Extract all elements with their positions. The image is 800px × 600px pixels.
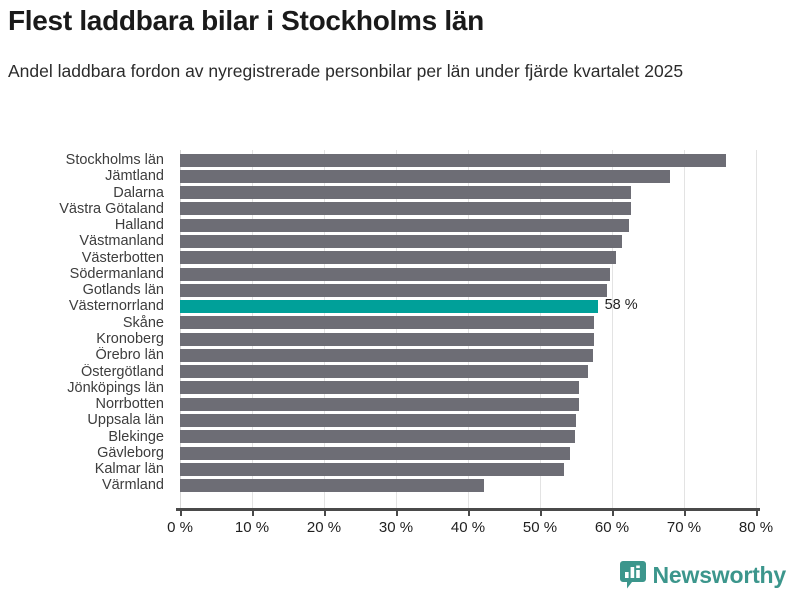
y-label-kalmar-län: Kalmar län <box>0 461 164 477</box>
newsworthy-bar-chart-bubble-icon <box>620 561 646 589</box>
bar-row[interactable] <box>180 168 756 184</box>
bar-uppsala-län[interactable] <box>180 414 576 427</box>
y-label-västernorrland: Västernorrland <box>0 298 164 314</box>
bar-gävleborg[interactable] <box>180 447 570 460</box>
bar-dalarna[interactable] <box>180 186 631 199</box>
bar-kalmar-län[interactable] <box>180 463 564 476</box>
y-axis-category-labels: Stockholms länJämtlandDalarnaVästra Göta… <box>0 150 172 508</box>
y-label-jönköpings-län: Jönköpings län <box>0 380 164 396</box>
y-label-östergötland: Östergötland <box>0 364 164 380</box>
bar-row[interactable] <box>180 201 756 217</box>
bar-östergötland[interactable] <box>180 365 588 378</box>
bar-row[interactable] <box>180 315 756 331</box>
bar-blekinge[interactable] <box>180 430 575 443</box>
x-tick-0 <box>180 508 182 516</box>
gridline-80 <box>756 150 757 508</box>
bar-stockholms-län[interactable] <box>180 154 726 167</box>
x-tick-label-30: 30 % <box>379 519 413 537</box>
bar-row[interactable]: 58 % <box>180 298 756 314</box>
x-tick-50 <box>540 508 542 516</box>
bar-row[interactable] <box>180 461 756 477</box>
bar-row[interactable] <box>180 282 756 298</box>
bar-halland[interactable] <box>180 219 629 232</box>
y-label-uppsala-län: Uppsala län <box>0 412 164 428</box>
y-label-skåne: Skåne <box>0 315 164 331</box>
bar-value-label: 58 % <box>605 297 638 313</box>
bar-jönköpings-län[interactable] <box>180 381 579 394</box>
x-tick-40 <box>468 508 470 516</box>
bar-row[interactable] <box>180 266 756 282</box>
bar-row[interactable] <box>180 217 756 233</box>
bar-row[interactable] <box>180 477 756 493</box>
bar-västernorrland[interactable] <box>180 300 598 313</box>
x-tick-label-0: 0 % <box>167 519 193 537</box>
bar-row[interactable] <box>180 364 756 380</box>
y-label-blekinge: Blekinge <box>0 429 164 445</box>
x-tick-80 <box>756 508 758 516</box>
bar-södermanland[interactable] <box>180 268 610 281</box>
plot-area: 58 % <box>180 150 756 508</box>
x-tick-20 <box>324 508 326 516</box>
y-label-halland: Halland <box>0 217 164 233</box>
bar-row[interactable] <box>180 412 756 428</box>
y-label-värmland: Värmland <box>0 477 164 493</box>
bar-row[interactable] <box>180 250 756 266</box>
y-label-västmanland: Västmanland <box>0 233 164 249</box>
x-tick-10 <box>252 508 254 516</box>
y-label-gävleborg: Gävleborg <box>0 445 164 461</box>
y-label-kronoberg: Kronoberg <box>0 331 164 347</box>
y-label-västerbotten: Västerbotten <box>0 250 164 266</box>
y-label-dalarna: Dalarna <box>0 185 164 201</box>
bar-västmanland[interactable] <box>180 235 622 248</box>
bar-row[interactable] <box>180 429 756 445</box>
x-tick-label-60: 60 % <box>595 519 629 537</box>
bar-row[interactable] <box>180 347 756 363</box>
y-label-västra-götaland: Västra Götaland <box>0 201 164 217</box>
bar-kronoberg[interactable] <box>180 333 594 346</box>
y-label-södermanland: Södermanland <box>0 266 164 282</box>
chart-subtitle: Andel laddbara fordon av nyregistrerade … <box>8 58 798 84</box>
bar-row[interactable] <box>180 185 756 201</box>
newsworthy-logo: Newsworthy <box>620 560 786 590</box>
bar-row[interactable] <box>180 233 756 249</box>
bar-värmland[interactable] <box>180 479 484 492</box>
x-tick-70 <box>684 508 686 516</box>
chart-title: Flest laddbara bilar i Stockholms län <box>8 4 792 38</box>
bar-skåne[interactable] <box>180 316 594 329</box>
bar-norrbotten[interactable] <box>180 398 579 411</box>
bar-örebro-län[interactable] <box>180 349 593 362</box>
newsworthy-wordmark: Newsworthy <box>653 562 786 588</box>
x-tick-30 <box>396 508 398 516</box>
y-label-örebro-län: Örebro län <box>0 347 164 363</box>
bar-jämtland[interactable] <box>180 170 670 183</box>
bar-row[interactable] <box>180 445 756 461</box>
y-label-gotlands-län: Gotlands län <box>0 282 164 298</box>
chart-container: Flest laddbara bilar i Stockholms län An… <box>0 0 800 600</box>
x-tick-label-40: 40 % <box>451 519 485 537</box>
bar-series: 58 % <box>180 150 756 508</box>
x-tick-label-80: 80 % <box>739 519 773 537</box>
y-label-jämtland: Jämtland <box>0 168 164 184</box>
x-tick-60 <box>612 508 614 516</box>
y-label-norrbotten: Norrbotten <box>0 396 164 412</box>
x-tick-label-50: 50 % <box>523 519 557 537</box>
y-label-stockholms-län: Stockholms län <box>0 152 164 168</box>
bar-row[interactable] <box>180 152 756 168</box>
bar-row[interactable] <box>180 331 756 347</box>
x-tick-label-70: 70 % <box>667 519 701 537</box>
bar-row[interactable] <box>180 380 756 396</box>
x-tick-label-20: 20 % <box>307 519 341 537</box>
x-tick-label-10: 10 % <box>235 519 269 537</box>
bar-gotlands-län[interactable] <box>180 284 607 297</box>
bar-västra-götaland[interactable] <box>180 202 631 215</box>
bar-row[interactable] <box>180 396 756 412</box>
bar-västerbotten[interactable] <box>180 251 616 264</box>
